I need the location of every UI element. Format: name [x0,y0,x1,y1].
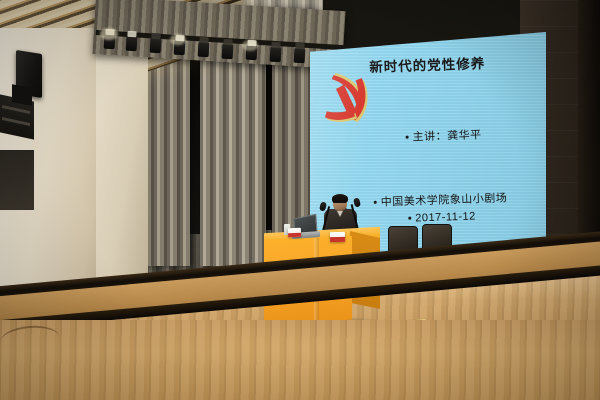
stage-light-icon [150,38,162,54]
glasses-icon [333,202,346,206]
name-card-left [288,228,301,237]
lecture-hall-photo: 新时代的党性修养 主讲：龚华平 中国美术学院象山小剧场 2017-11 [0,0,600,400]
stage-light-icon [222,44,234,60]
lamp-glow [170,34,186,45]
name-card-right [330,232,345,242]
stage-light-icon [198,42,210,58]
stage-light-icon [270,47,282,63]
stage-light-icon [294,48,306,64]
stage-light-icon [126,36,138,52]
lower-floor [0,320,600,400]
lamp-glow [100,28,118,40]
lamp-glow [242,40,258,51]
left-wall-recess [0,150,34,210]
right-wall-edge [578,0,600,268]
wall-speaker-mount [12,84,32,106]
